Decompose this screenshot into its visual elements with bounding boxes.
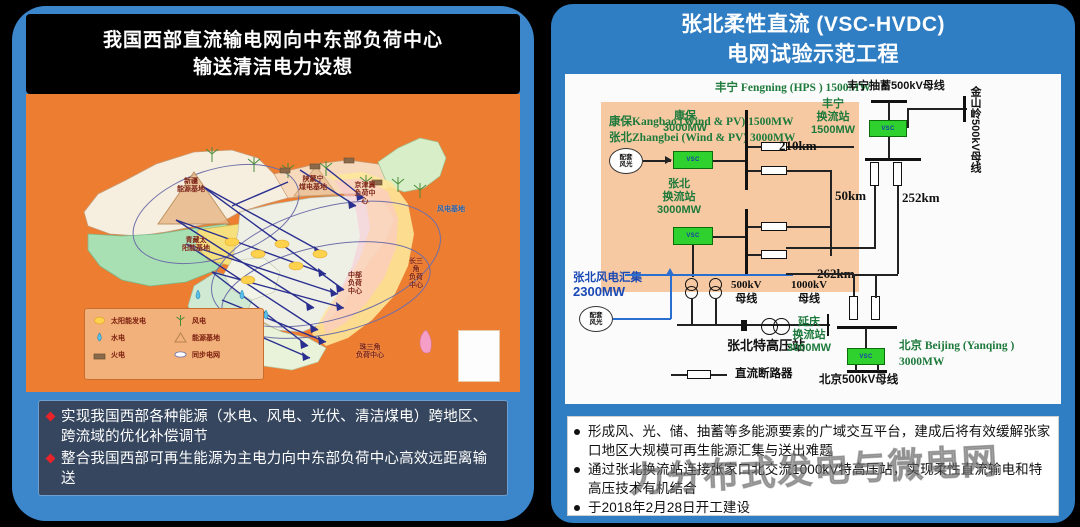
map-label-zhongbu: 中部负荷中心	[338, 272, 372, 296]
legend-item-hydro: 水电	[93, 332, 174, 343]
bus-label-1000kv: 1000kV母线	[791, 278, 827, 306]
map-inset-box	[458, 330, 500, 382]
station-label-yanqing: 延庆换流站3000MW	[787, 316, 831, 355]
bus-label-500kv: 500kV母线	[731, 278, 762, 306]
bus-beijing-500kv	[847, 370, 887, 373]
arrow-kangbao-aux	[665, 156, 672, 164]
right-bullet-3: 于2018年2月28日开工建设	[588, 498, 750, 517]
wire-beijing-bus-v1	[855, 365, 857, 371]
right-bullet-1: 形成风、光、储、抽蓄等多能源要素的广域交互平台，建成后将有效缓解张家口地区大规模…	[588, 422, 1052, 460]
dc-breaker-upper-2	[761, 166, 787, 175]
bus-label-jinshanling: 金山岭500kV母线	[969, 86, 981, 173]
legend-label-energy-base: 能源基地	[192, 333, 220, 343]
map-legend: 太阳能发电 风电 水电 能源基地 火电	[84, 308, 264, 380]
aux-label-kangbao-line1: 配套	[620, 154, 633, 162]
round-bullet-icon	[574, 467, 580, 473]
bus-500kv-upper	[745, 110, 748, 190]
legend-item-wind: 风电	[174, 315, 255, 326]
map-label-shaanmengning: 陕蒙宁煤电基地	[284, 176, 342, 192]
station-label-kangbao: 康保 3000MW	[663, 110, 707, 134]
distance-label-252km: 252km	[902, 192, 940, 204]
left-bullet-1: 实现我国西部各种能源（水电、风电、光伏、清洁煤电）跨地区、跨流域的优化补偿调节	[61, 407, 499, 447]
list-item: 通过张北换流站连接张家口北交流1000kV特高压站，实现柔性直流输电和特高压技术…	[574, 460, 1052, 498]
beijing-yanqing-label: 北京 Beijing (Yanqing )	[899, 340, 1014, 352]
legend-label-hydro: 水电	[111, 333, 125, 343]
wire-fengning-br2-down	[897, 186, 899, 274]
legend-label-sync-grid: 同步电网	[192, 350, 220, 360]
bus-500kv-lower	[745, 209, 748, 275]
bus-fengning-dc	[865, 158, 921, 161]
legend-item-sync-grid: 同步电网	[174, 349, 255, 360]
wire-fengning-br1-h	[786, 247, 876, 249]
vsc-label: VSC	[859, 354, 872, 360]
dc-breaker-lower-2	[761, 250, 787, 259]
wire-yanqing-bus-down	[865, 328, 867, 350]
legend-label-solar: 太阳能发电	[111, 316, 146, 326]
list-item: 形成风、光、储、抽蓄等多能源要素的广域交互平台，建成后将有效缓解张家口地区大规模…	[574, 422, 1052, 460]
aux-label-kangbao-line2: 风光	[620, 161, 633, 169]
aux-label-zhangbei-line2: 风光	[590, 319, 603, 327]
wire-blue-feed	[613, 318, 671, 320]
vsc-converter-kangbao: VSC	[673, 151, 713, 169]
left-slide-panel: 我国西部直流输电网向中东部负荷中心 输送清洁电力设想	[12, 6, 534, 521]
round-bullet-icon	[574, 505, 580, 511]
legend-dc-breaker-icon	[687, 370, 711, 379]
beijing-yanqing-power: 3000MW	[899, 356, 944, 368]
dc-breaker-fengning-2	[893, 162, 902, 186]
map-label-changsanjiao: 长三角负荷中心	[404, 258, 428, 290]
map-label-qingzang: 青藏太阳能基地	[168, 237, 224, 253]
wire-upper-2b	[786, 170, 831, 172]
legend-label-thermal: 火电	[111, 350, 125, 360]
distance-label-210km: 210km	[779, 140, 817, 152]
wire-fengning-br1-down	[874, 186, 876, 248]
vsc-converter-zhangbei: VSC	[673, 227, 713, 245]
wire-blue-collect-bar	[625, 274, 793, 276]
wire-kangbao-to-bus	[713, 160, 745, 162]
wire-jinshanling-v	[907, 108, 909, 128]
round-bullet-icon	[574, 429, 580, 435]
legend-dc-breaker-label: 直流断路器	[735, 368, 793, 380]
map-label-xinjiang: 新疆能源基地	[165, 178, 217, 194]
list-item: 于2018年2月28日开工建设	[574, 498, 1052, 517]
legend-line-right	[711, 374, 727, 376]
wire-zhangbei-down	[692, 245, 694, 277]
wire-zhangbei-to-bus	[713, 236, 745, 238]
aux-wind-pv-zhangbei: 配套 风光	[579, 306, 613, 332]
station-label-zhangbei: 张北换流站3000MW	[657, 178, 701, 217]
transformer-1-bot	[685, 286, 698, 299]
wire-upper-1a	[748, 146, 762, 148]
wire-tx2-down	[715, 299, 717, 325]
aux-wind-pv-kangbao: 配套 风光	[609, 148, 643, 174]
wire-upper-2a	[748, 170, 762, 172]
wind-turbine-icon	[174, 315, 187, 326]
triangle-icon	[174, 332, 187, 343]
left-title-line-1: 我国西部直流输电网向中东部负荷中心	[103, 27, 443, 54]
dc-breaker-yanqing-1	[849, 296, 858, 320]
list-item: 整合我国西部可再生能源为主电力向中东部负荷中心高效远距离输送	[47, 449, 499, 489]
ellipse-icon	[174, 349, 187, 360]
aux-label-zhangbei-line1: 配套	[590, 312, 603, 320]
wire-yanqing-left-v	[853, 274, 855, 298]
legend-item-thermal: 火电	[93, 349, 174, 360]
distance-label-50km: 50km	[835, 190, 866, 202]
legend-item-solar: 太阳能发电	[93, 315, 174, 326]
dc-breaker-yanqing-2	[871, 296, 880, 320]
right-title: 张北柔性直流 (VSC-HVDC) 电网试验示范工程	[551, 10, 1075, 70]
wire-fengning-down	[888, 137, 890, 159]
wire-blue-up	[670, 274, 672, 319]
left-bullet-list: 实现我国西部各种能源（水电、风电、光伏、清洁煤电）跨地区、跨流域的优化补偿调节 …	[38, 400, 508, 496]
wire-lower-1b	[786, 226, 831, 228]
dc-breaker-fengning-1	[870, 162, 879, 186]
station-label-fengning: 丰宁换流站1500MW	[811, 98, 855, 137]
wire-fengning-to-jinshanling	[907, 108, 967, 110]
wire-50km-vertical	[830, 170, 832, 256]
right-slide-panel: 张北柔性直流 (VSC-HVDC) 电网试验示范工程 丰宁 Fengning (…	[551, 4, 1075, 523]
right-title-line-1: 张北柔性直流 (VSC-HVDC)	[551, 10, 1075, 40]
map-label-fengdian: 风电基地	[428, 206, 474, 214]
vsc-converter-yanqing: VSC	[847, 348, 885, 365]
wire-tx1-down	[691, 299, 693, 325]
china-energy-map: 新疆能源基地 青藏太阳能基地 陕蒙宁煤电基地 京津冀负荷中心 中部负荷中心 长三…	[26, 94, 520, 392]
wire-yanqing-right-v	[875, 274, 877, 298]
right-bullet-2: 通过张北换流站连接张家口北交流1000kV特高压站，实现柔性直流输电和特高压技术…	[588, 460, 1052, 498]
vsc-label: VSC	[881, 126, 894, 132]
wire-lower-2a	[748, 254, 762, 256]
water-drop-icon	[93, 332, 106, 343]
map-label-jingjinji: 京津冀负荷中心	[344, 182, 386, 206]
legend-line-left	[671, 374, 687, 376]
zhangbei-wind-power-label: 2300MW	[573, 286, 625, 298]
uhv-breaker	[741, 320, 747, 331]
vsc-hvdc-single-line-diagram: 丰宁 Fengning (HPS ) 1500MW 康保Kangbao (Win…	[565, 74, 1061, 404]
left-bullet-2: 整合我国西部可再生能源为主电力向中东部负荷中心高效远距离输送	[61, 449, 499, 489]
list-item: 实现我国西部各种能源（水电、风电、光伏、清洁煤电）跨地区、跨流域的优化补偿调节	[47, 407, 499, 447]
dc-breaker-lower-1	[761, 222, 787, 231]
diamond-bullet-icon	[46, 454, 56, 464]
legend-item-energy-base: 能源基地	[174, 332, 255, 343]
right-bullet-list: 形成风、光、储、抽蓄等多能源要素的广域交互平台，建成后将有效缓解张家口地区大规模…	[567, 416, 1059, 516]
map-label-zhusanjiao: 珠三角负荷中心	[344, 344, 396, 360]
bus-label-beijing: 北京500kV母线	[819, 374, 898, 386]
left-title-line-2: 输送清洁电力设想	[193, 54, 353, 81]
wire-beijing-bus-v2	[877, 365, 879, 371]
transformer-2-bot	[709, 286, 722, 299]
diamond-bullet-icon	[46, 412, 56, 422]
right-title-line-2: 电网试验示范工程	[551, 40, 1075, 70]
left-title-box: 我国西部直流输电网向中东部负荷中心 输送清洁电力设想	[26, 14, 520, 94]
vsc-converter-fengning: VSC	[869, 120, 907, 137]
bus-label-fengning-pumped-storage: 丰宁抽蓄500kV母线	[847, 80, 945, 92]
vsc-label: VSC	[686, 157, 699, 163]
wire-lower-1a	[748, 226, 762, 228]
thermal-plant-icon	[93, 349, 106, 360]
bus-jinshanling-500kv	[963, 96, 966, 122]
vsc-label: VSC	[686, 233, 699, 239]
wire-262-to-yanqing	[786, 273, 854, 275]
legend-label-wind: 风电	[192, 316, 206, 326]
sun-icon	[93, 315, 106, 326]
bus-yanqing-dc	[837, 326, 897, 329]
